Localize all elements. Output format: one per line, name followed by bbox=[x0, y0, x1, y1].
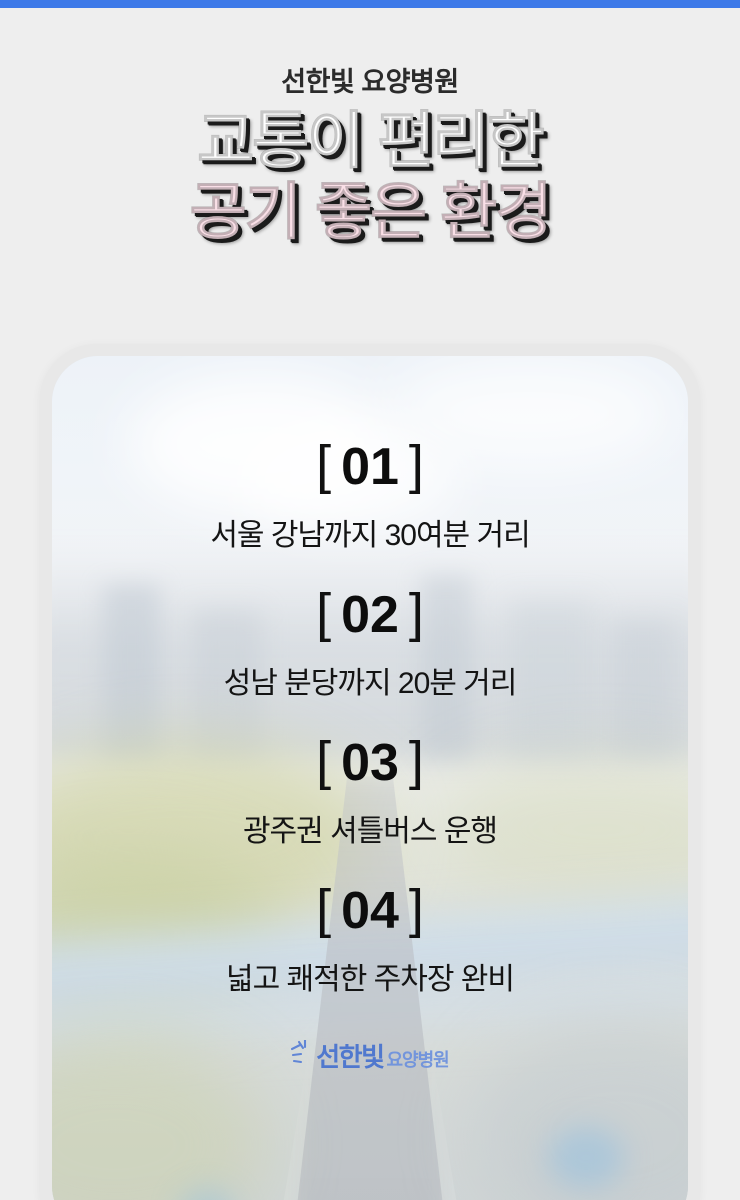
feature-number-value: 04 bbox=[341, 885, 399, 937]
feature-number-value: 02 bbox=[341, 589, 399, 641]
logo-sub-text: 요양병원 bbox=[387, 1051, 449, 1070]
bracket-right-icon: ] bbox=[409, 882, 424, 936]
feature-item-01: [ 01 ] 서울 강남까지 30여분 거리 bbox=[52, 440, 688, 554]
feature-label-02: 성남 분당까지 20분 거리 bbox=[52, 658, 688, 702]
top-accent-bar bbox=[0, 0, 740, 8]
bracket-left-icon: [ bbox=[316, 438, 331, 492]
bracket-right-icon: ] bbox=[409, 734, 424, 788]
feature-item-02: [ 02 ] 성남 분당까지 20분 거리 bbox=[52, 588, 688, 702]
feature-item-04: [ 04 ] 넓고 쾌적한 주차장 완비 bbox=[52, 884, 688, 998]
feature-label-03: 광주권 셔틀버스 운행 bbox=[52, 806, 688, 850]
bracket-right-icon: ] bbox=[409, 438, 424, 492]
feature-label-01: 서울 강남까지 30여분 거리 bbox=[52, 510, 688, 554]
headline-line-1: 교통이 편리한 bbox=[0, 112, 740, 173]
light-rays-icon bbox=[291, 1040, 313, 1070]
feature-card: [ 01 ] 서울 강남까지 30여분 거리 [ 02 ] 성남 분당까지 20… bbox=[40, 344, 700, 1200]
hospital-logo: 선한빛 요양병원 bbox=[291, 1040, 449, 1070]
feature-list: [ 01 ] 서울 강남까지 30여분 거리 [ 02 ] 성남 분당까지 20… bbox=[52, 356, 688, 1200]
bracket-left-icon: [ bbox=[316, 882, 331, 936]
feature-number-04: [ 04 ] bbox=[52, 884, 688, 938]
header: 선한빛 요양병원 교통이 편리한 공기 좋은 환경 bbox=[0, 8, 740, 244]
feature-number-value: 01 bbox=[341, 441, 399, 493]
headline-line-2: 공기 좋은 환경 bbox=[0, 183, 740, 244]
feature-item-03: [ 03 ] 광주권 셔틀버스 운행 bbox=[52, 736, 688, 850]
feature-number-02: [ 02 ] bbox=[52, 588, 688, 642]
feature-number-03: [ 03 ] bbox=[52, 736, 688, 790]
page-title: 교통이 편리한 공기 좋은 환경 bbox=[0, 112, 740, 244]
bracket-left-icon: [ bbox=[316, 586, 331, 640]
feature-number-01: [ 01 ] bbox=[52, 440, 688, 494]
feature-label-04: 넓고 쾌적한 주차장 완비 bbox=[52, 954, 688, 998]
logo-main-text: 선한빛 bbox=[316, 1044, 383, 1070]
bracket-right-icon: ] bbox=[409, 586, 424, 640]
feature-number-value: 03 bbox=[341, 737, 399, 789]
brand-eyebrow: 선한빛 요양병원 bbox=[0, 66, 740, 98]
bracket-left-icon: [ bbox=[316, 734, 331, 788]
card-photo-background: [ 01 ] 서울 강남까지 30여분 거리 [ 02 ] 성남 분당까지 20… bbox=[52, 356, 688, 1200]
